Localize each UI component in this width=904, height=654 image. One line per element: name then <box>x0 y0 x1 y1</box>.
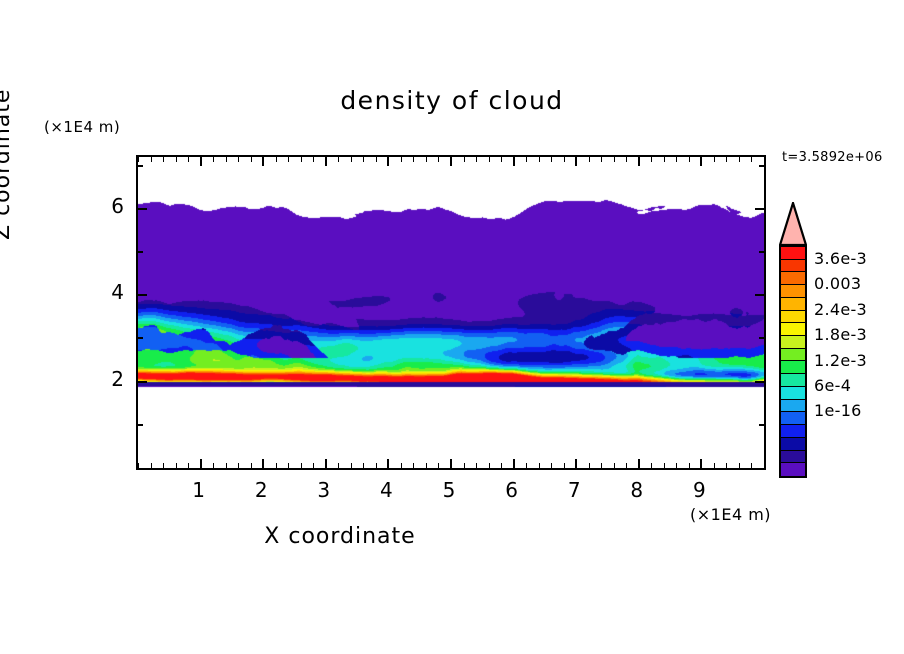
colorbar-tick-label: 1.8e-3 <box>814 325 867 344</box>
x-minor-tick <box>363 463 364 468</box>
colorbar-extend-arrow <box>779 202 807 246</box>
x-axis-title: X coordinate <box>0 524 680 549</box>
x-minor-tick <box>564 463 565 468</box>
colorbar-band <box>781 311 805 324</box>
x-minor-tick <box>751 463 752 468</box>
x-minor-tick <box>726 157 727 162</box>
x-tick-label: 2 <box>246 478 276 502</box>
y-tick-label: 6 <box>94 194 124 218</box>
colorbar-band <box>781 336 805 349</box>
x-minor-tick <box>539 463 540 468</box>
x-minor-tick <box>651 463 652 468</box>
colorbar[interactable] <box>779 245 807 478</box>
x-minor-tick <box>614 463 615 468</box>
x-minor-tick <box>551 157 552 162</box>
colorbar-band <box>781 285 805 298</box>
x-minor-tick <box>664 157 665 162</box>
colorbar-band <box>781 272 805 285</box>
x-minor-tick <box>288 463 289 468</box>
y-major-tick <box>138 381 147 383</box>
x-minor-tick <box>564 157 565 162</box>
colorbar-tick-label: 1e-16 <box>814 401 862 420</box>
y-minor-tick <box>138 165 143 167</box>
x-minor-tick <box>701 157 702 162</box>
x-tick-label: 4 <box>371 478 401 502</box>
x-minor-tick <box>576 463 577 468</box>
y-tick-label: 4 <box>94 280 124 304</box>
colorbar-tick-label: 2.4e-3 <box>814 300 867 319</box>
x-minor-tick <box>676 157 677 162</box>
x-minor-tick <box>526 157 527 162</box>
x-minor-tick <box>176 157 177 162</box>
x-minor-tick <box>589 157 590 162</box>
colorbar-band <box>781 438 805 451</box>
x-minor-tick <box>163 463 164 468</box>
x-minor-tick <box>714 463 715 468</box>
x-minor-tick <box>451 157 452 162</box>
x-minor-tick <box>351 463 352 468</box>
x-minor-tick <box>276 157 277 162</box>
y-major-tick <box>755 294 764 296</box>
x-minor-tick <box>601 157 602 162</box>
x-minor-tick <box>326 463 327 468</box>
x-minor-tick <box>526 463 527 468</box>
x-minor-tick <box>426 463 427 468</box>
x-minor-tick <box>338 157 339 162</box>
x-minor-tick <box>751 157 752 162</box>
x-minor-tick <box>689 463 690 468</box>
x-minor-tick <box>326 157 327 162</box>
colorbar-band <box>781 425 805 438</box>
x-minor-tick <box>388 157 389 162</box>
x-minor-tick <box>489 463 490 468</box>
colorbar-tick-label: 1.2e-3 <box>814 351 867 370</box>
x-minor-tick <box>489 157 490 162</box>
x-minor-tick <box>689 157 690 162</box>
x-minor-tick <box>476 463 477 468</box>
x-minor-tick <box>626 157 627 162</box>
x-tick-label: 1 <box>184 478 214 502</box>
page-title: density of cloud <box>0 86 904 115</box>
x-minor-tick <box>288 157 289 162</box>
y-minor-tick <box>759 251 764 253</box>
y-tick-label: 2 <box>94 367 124 391</box>
x-minor-tick <box>601 463 602 468</box>
y-minor-tick <box>138 251 143 253</box>
y-major-tick <box>138 294 147 296</box>
colorbar-band <box>781 349 805 362</box>
y-minor-tick <box>138 424 143 426</box>
x-minor-tick <box>639 157 640 162</box>
x-minor-tick <box>301 157 302 162</box>
x-minor-tick <box>138 463 139 468</box>
x-minor-tick <box>213 157 214 162</box>
x-minor-tick <box>589 463 590 468</box>
y-minor-tick <box>138 337 143 339</box>
colorbar-band <box>781 451 805 464</box>
x-minor-tick <box>413 463 414 468</box>
x-minor-tick <box>739 463 740 468</box>
x-minor-tick <box>739 157 740 162</box>
x-minor-tick <box>451 463 452 468</box>
x-minor-tick <box>726 463 727 468</box>
x-minor-tick <box>351 157 352 162</box>
x-minor-tick <box>514 463 515 468</box>
x-minor-tick <box>238 463 239 468</box>
x-minor-tick <box>226 157 227 162</box>
y-major-tick <box>138 208 147 210</box>
x-minor-tick <box>251 463 252 468</box>
x-minor-tick <box>238 157 239 162</box>
x-minor-tick <box>388 463 389 468</box>
x-minor-tick <box>251 157 252 162</box>
x-minor-tick <box>464 157 465 162</box>
x-minor-tick <box>401 463 402 468</box>
x-tick-label: 5 <box>434 478 464 502</box>
x-minor-tick <box>614 157 615 162</box>
x-minor-tick <box>639 463 640 468</box>
y-minor-tick <box>759 165 764 167</box>
x-minor-tick <box>438 157 439 162</box>
x-minor-tick <box>188 463 189 468</box>
y-minor-tick <box>759 424 764 426</box>
x-tick-label: 6 <box>497 478 527 502</box>
x-minor-tick <box>176 463 177 468</box>
x-minor-tick <box>438 463 439 468</box>
colorbar-band <box>781 298 805 311</box>
x-minor-tick <box>714 157 715 162</box>
x-minor-tick <box>664 463 665 468</box>
colorbar-tick-label: 0.003 <box>814 274 861 293</box>
x-minor-tick <box>651 157 652 162</box>
x-minor-tick <box>764 463 765 468</box>
x-minor-tick <box>151 157 152 162</box>
x-minor-tick <box>501 463 502 468</box>
x-minor-tick <box>263 463 264 468</box>
colorbar-band <box>781 400 805 413</box>
x-minor-tick <box>226 463 227 468</box>
x-minor-tick <box>464 463 465 468</box>
colorbar-band <box>781 412 805 425</box>
x-minor-tick <box>401 157 402 162</box>
colorbar-band <box>781 463 805 476</box>
plot-frame <box>136 155 766 470</box>
x-tick-label: 7 <box>559 478 589 502</box>
y-axis-title: Z coordinate <box>0 89 15 240</box>
x-minor-tick <box>313 463 314 468</box>
colorbar-tick-label: 3.6e-3 <box>814 249 867 268</box>
x-minor-tick <box>514 157 515 162</box>
y-minor-tick <box>759 337 764 339</box>
x-minor-tick <box>276 463 277 468</box>
x-minor-tick <box>151 463 152 468</box>
x-minor-tick <box>676 463 677 468</box>
x-minor-tick <box>363 157 364 162</box>
x-minor-tick <box>376 157 377 162</box>
colorbar-band <box>781 260 805 273</box>
x-tick-label: 8 <box>622 478 652 502</box>
x-minor-tick <box>426 157 427 162</box>
x-tick-label: 3 <box>309 478 339 502</box>
x-minor-tick <box>188 157 189 162</box>
colorbar-tick-label: 6e-4 <box>814 376 851 395</box>
y-axis-units-label: (×1E4 m) <box>44 118 120 136</box>
x-minor-tick <box>313 157 314 162</box>
x-minor-tick <box>501 157 502 162</box>
colorbar-band <box>781 247 805 260</box>
x-minor-tick <box>201 463 202 468</box>
x-minor-tick <box>764 157 765 162</box>
y-major-tick <box>755 381 764 383</box>
x-tick-label: 9 <box>684 478 714 502</box>
x-axis-units-label: (×1E4 m) <box>690 505 771 524</box>
colorbar-band <box>781 361 805 374</box>
colorbar-band <box>781 374 805 387</box>
contour-field <box>138 157 764 468</box>
y-major-tick <box>755 208 764 210</box>
x-minor-tick <box>551 463 552 468</box>
x-minor-tick <box>263 157 264 162</box>
colorbar-band <box>781 323 805 336</box>
x-minor-tick <box>376 463 377 468</box>
time-annotation: t=3.5892e+06 <box>782 150 883 165</box>
x-minor-tick <box>301 463 302 468</box>
x-minor-tick <box>413 157 414 162</box>
x-minor-tick <box>539 157 540 162</box>
x-minor-tick <box>626 463 627 468</box>
x-minor-tick <box>201 157 202 162</box>
x-minor-tick <box>138 157 139 162</box>
x-minor-tick <box>213 463 214 468</box>
x-minor-tick <box>576 157 577 162</box>
x-minor-tick <box>476 157 477 162</box>
colorbar-band <box>781 387 805 400</box>
x-minor-tick <box>163 157 164 162</box>
x-minor-tick <box>338 463 339 468</box>
x-minor-tick <box>701 463 702 468</box>
